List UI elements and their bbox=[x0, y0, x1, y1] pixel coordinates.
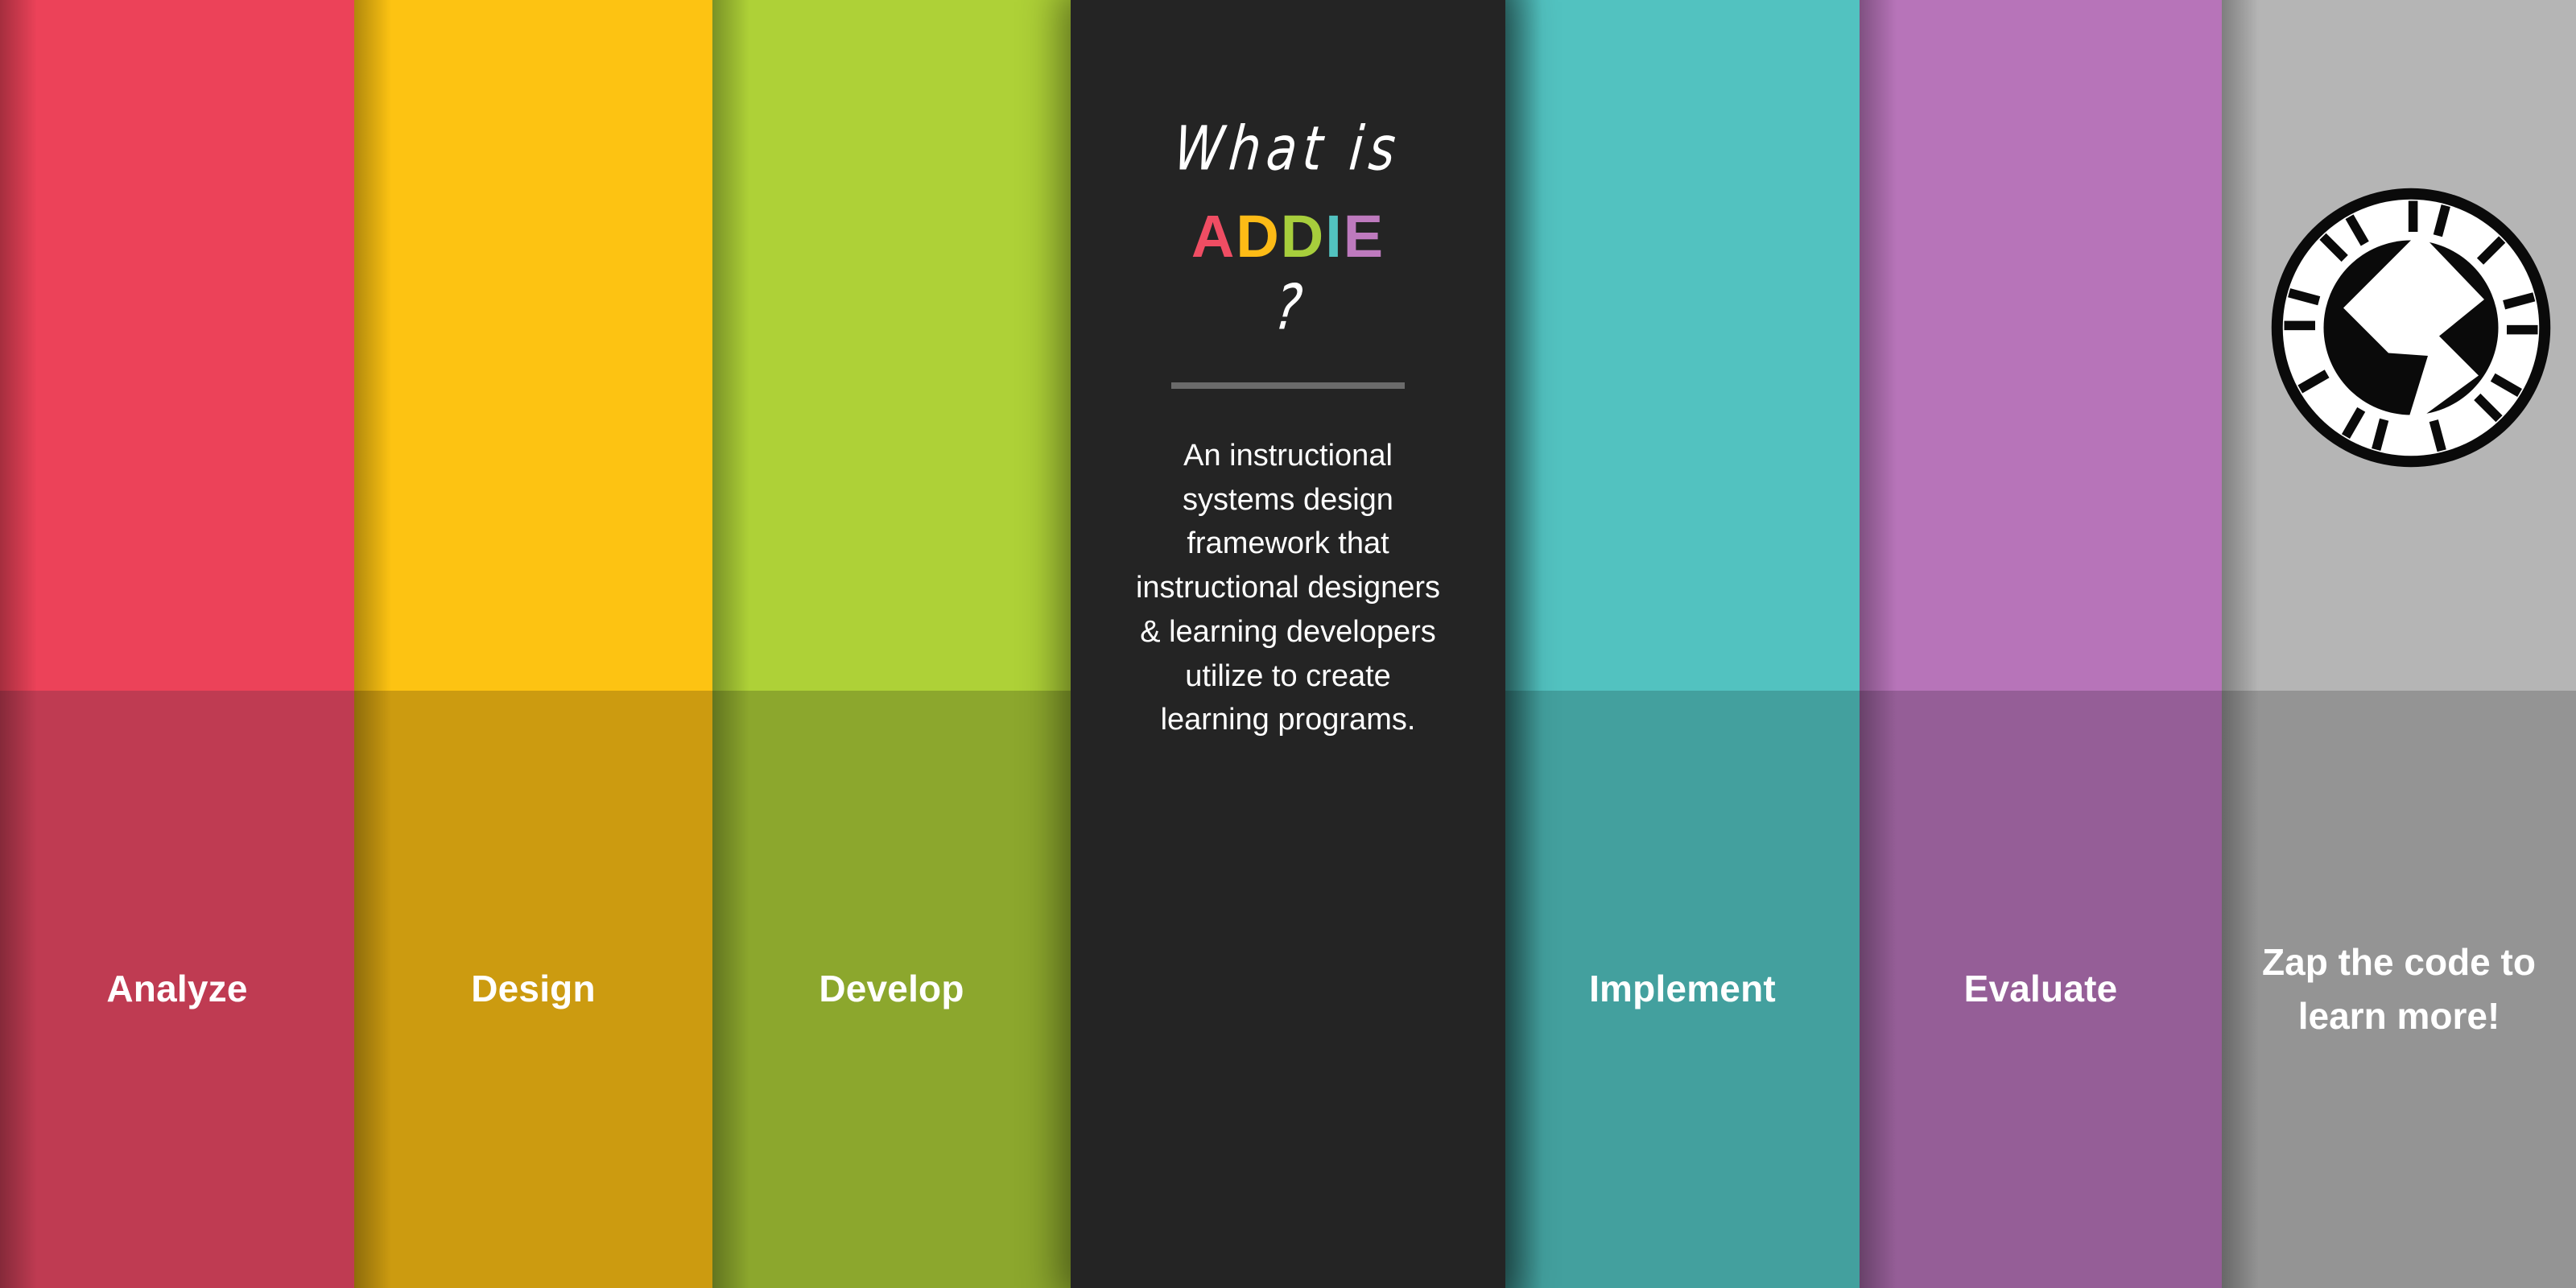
zapcode-icon[interactable] bbox=[2270, 187, 2552, 469]
addie-poster: Analyze Design Develop Implement Evaluat… bbox=[0, 0, 2576, 1288]
headline-addie: ADDIE bbox=[1191, 207, 1385, 266]
addie-letter-d2: D bbox=[1281, 203, 1325, 270]
addie-description: An instructional systems design framewor… bbox=[1133, 434, 1443, 742]
phase-label-analyze: Analyze bbox=[0, 691, 354, 1288]
phase-column-implement: Implement bbox=[1505, 0, 1860, 1288]
phase-column-design: Design bbox=[354, 0, 712, 1288]
addie-letter-a: A bbox=[1191, 203, 1236, 270]
phase-band-top bbox=[354, 0, 712, 691]
addie-letter-e: E bbox=[1344, 203, 1385, 270]
headline-question-mark: ? bbox=[1271, 276, 1304, 339]
phase-label-design: Design bbox=[354, 691, 712, 1288]
center-info-panel: What is ADDIE ? An instructional systems… bbox=[1071, 0, 1505, 1288]
phase-column-evaluate: Evaluate bbox=[1860, 0, 2222, 1288]
phase-label-develop: Develop bbox=[712, 691, 1071, 1288]
phase-band-top bbox=[712, 0, 1071, 691]
phase-label-implement: Implement bbox=[1505, 691, 1860, 1288]
phase-band-top bbox=[0, 0, 354, 691]
addie-letter-i: I bbox=[1325, 203, 1344, 270]
phase-label-evaluate: Evaluate bbox=[1860, 691, 2222, 1288]
addie-letter-d1: D bbox=[1236, 203, 1280, 270]
headline-what-is: What is bbox=[1172, 113, 1405, 184]
zapcode-caption: Zap the code to learn more! bbox=[2222, 691, 2576, 1288]
phase-band-top bbox=[1505, 0, 1860, 691]
panel-divider bbox=[1171, 382, 1405, 389]
phase-column-develop: Develop bbox=[712, 0, 1071, 1288]
phase-column-analyze: Analyze bbox=[0, 0, 354, 1288]
phase-band-top bbox=[1860, 0, 2222, 691]
